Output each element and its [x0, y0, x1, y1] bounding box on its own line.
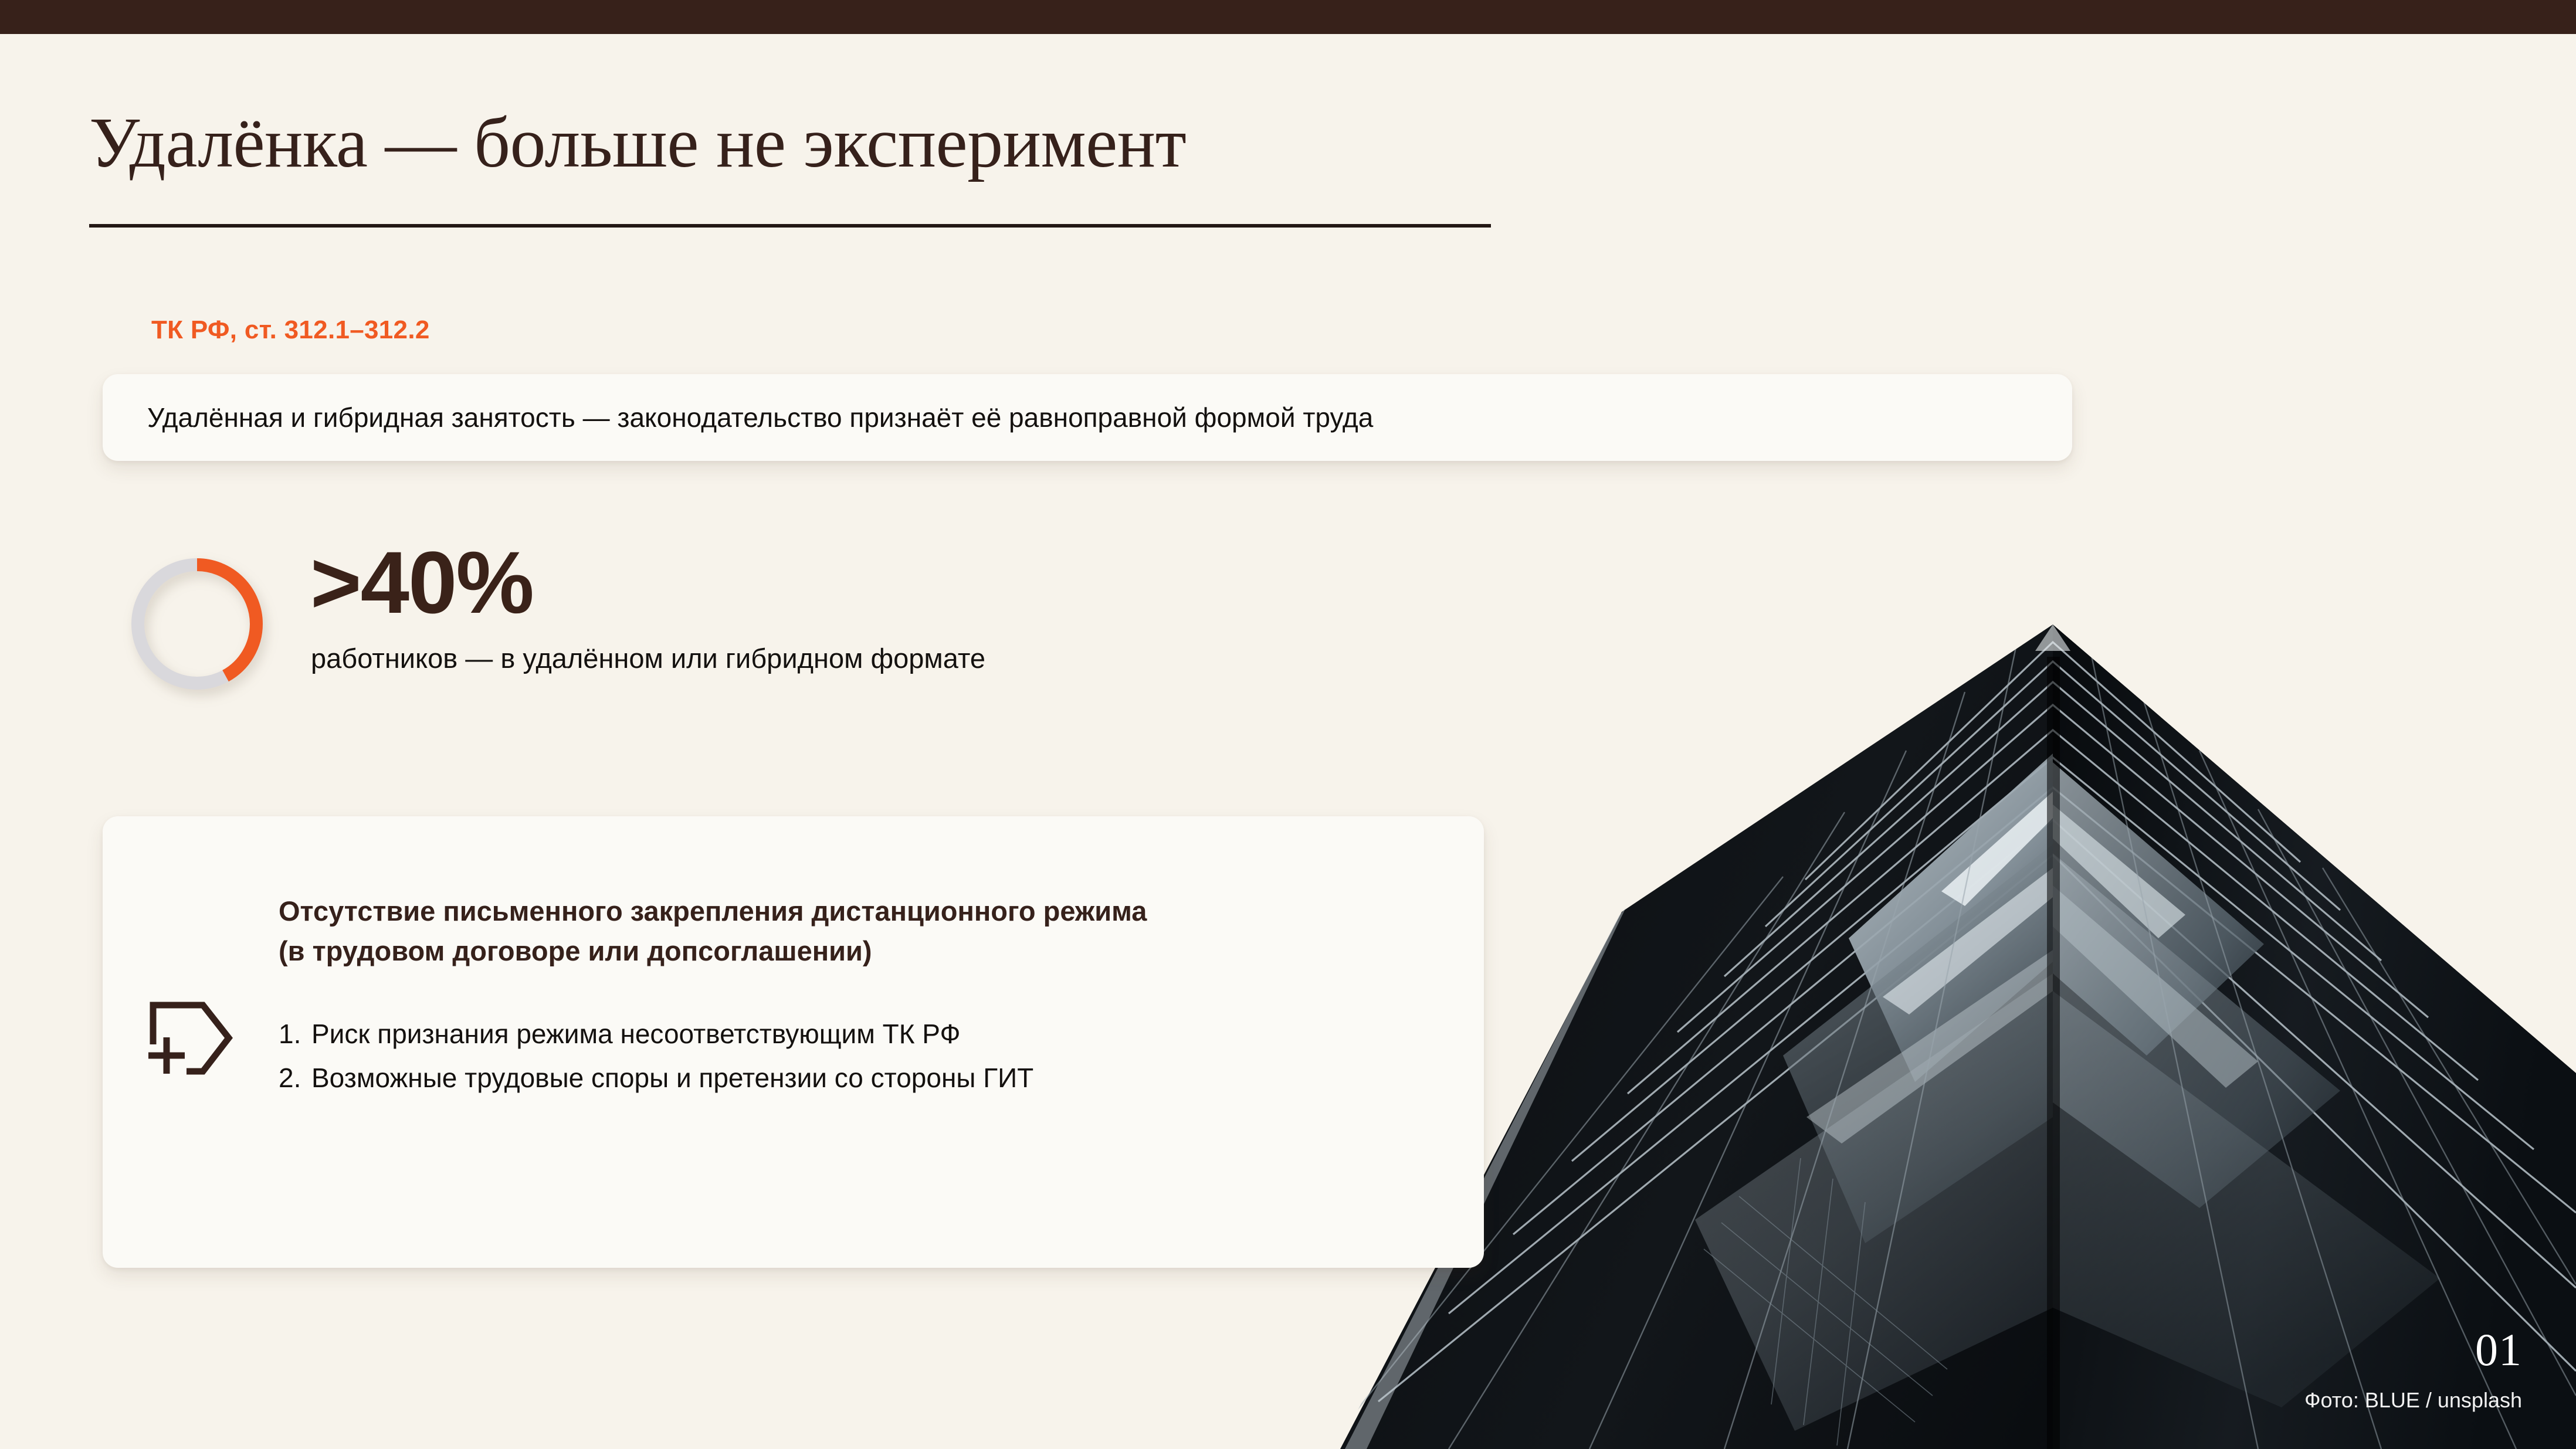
donut-chart-icon [124, 551, 270, 697]
donut-chart-graphic [124, 551, 270, 697]
risk-item-number: 2. [279, 1056, 311, 1100]
statement-card: Удалённая и гибридная занятость — законо… [103, 374, 2072, 461]
risk-list-item: 1.Риск признания режима несоответствующи… [279, 1012, 1428, 1056]
tag-plus-icon-graphic [141, 992, 246, 1098]
risk-heading-line-2: (в трудовом договоре или допсоглашении) [279, 931, 1428, 971]
slide-root: Удалёнка — больше не эксперимент ТК РФ, … [0, 0, 2576, 1449]
risk-item-number: 1. [279, 1012, 311, 1056]
tag-plus-icon [141, 992, 246, 1098]
risk-item-text: Риск признания режима несоответствующим … [311, 1019, 960, 1049]
risk-list: 1.Риск признания режима несоответствующи… [279, 1012, 1428, 1100]
risk-card: Отсутствие письменного закрепления диста… [103, 816, 1484, 1268]
photo-credit: Фото: BLUE / unsplash [2304, 1390, 2522, 1411]
page-number: 01 [2475, 1327, 2522, 1373]
title-underline [89, 224, 1491, 228]
risk-list-item: 2.Возможные трудовые споры и претензии с… [279, 1056, 1428, 1100]
law-reference-label: ТК РФ, ст. 312.1–312.2 [151, 315, 430, 345]
statement-text: Удалённая и гибридная занятость — законо… [147, 374, 1373, 461]
risk-card-body: Отсутствие письменного закрепления диста… [279, 891, 1428, 1100]
top-accent-bar [0, 0, 2576, 34]
stat-value: >40% [310, 538, 533, 626]
risk-item-text: Возможные трудовые споры и претензии со … [311, 1063, 1033, 1093]
stat-caption: работников — в удалённом или гибридном ф… [311, 642, 985, 674]
stat-block: >40% работников — в удалённом или гибрид… [124, 551, 1415, 715]
risk-heading-line-1: Отсутствие письменного закрепления диста… [279, 891, 1428, 931]
page-title: Удалёнка — больше не эксперимент [89, 103, 1532, 184]
